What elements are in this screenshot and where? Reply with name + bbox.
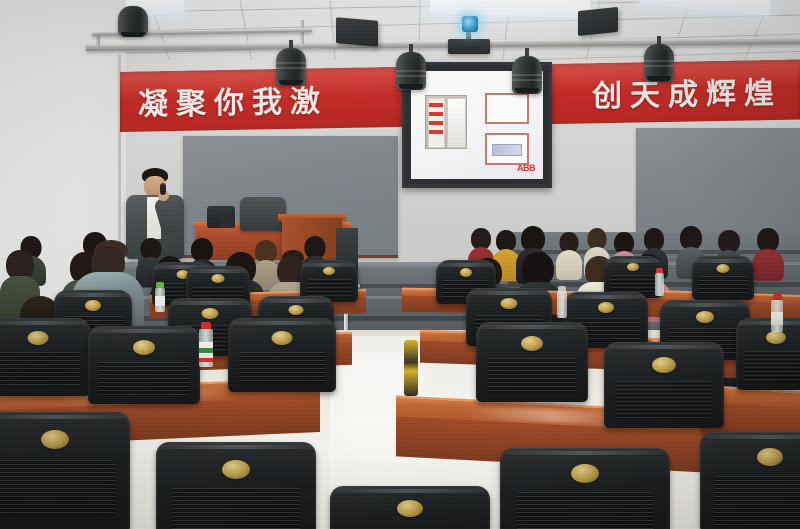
slide-cabinet-image bbox=[425, 95, 467, 149]
chair-r5-4 bbox=[500, 448, 670, 529]
water-bottle-green-cap bbox=[154, 282, 166, 312]
chair-r4-5 bbox=[604, 342, 724, 428]
microphone bbox=[160, 183, 166, 195]
water-bottle-far-right bbox=[654, 268, 665, 296]
chair-r4-6 bbox=[736, 318, 800, 390]
stage-spotlight-5 bbox=[118, 4, 148, 38]
chair-r5-5 bbox=[700, 432, 800, 529]
wall-speaker-right bbox=[578, 7, 618, 36]
stage-spotlight-2 bbox=[396, 44, 426, 90]
slide-box-inner-bar bbox=[492, 144, 522, 156]
chair-r5-2 bbox=[156, 442, 316, 529]
audience-person-r10 bbox=[752, 228, 784, 278]
chair-r4-4 bbox=[476, 322, 588, 402]
slide-box-bottom bbox=[485, 133, 529, 165]
projector-body bbox=[448, 39, 490, 54]
ceiling-projector bbox=[448, 28, 490, 62]
stage-spotlight-1 bbox=[276, 40, 306, 86]
chair-r5-3 bbox=[330, 486, 490, 529]
chair-r5-1 bbox=[0, 412, 130, 529]
yellow-strap-object bbox=[404, 340, 418, 396]
cabinet-interior bbox=[447, 98, 466, 148]
slide-box-top bbox=[485, 93, 529, 124]
chair-r4-3 bbox=[228, 318, 336, 392]
water-bottle-red-cap bbox=[198, 322, 214, 368]
chair-r4-2 bbox=[88, 326, 200, 404]
conference-room-photo: 凝聚你我激 创天成辉煌 ABB bbox=[0, 0, 800, 529]
chair-r4-1 bbox=[0, 318, 90, 396]
stage-spotlight-4 bbox=[644, 36, 674, 82]
chair-r2-6 bbox=[692, 256, 754, 300]
abb-logo: ABB bbox=[517, 163, 535, 173]
banner-text-right: 创天成辉煌 bbox=[592, 68, 782, 115]
wall-speaker-left bbox=[336, 17, 378, 47]
water-bottle-right bbox=[770, 294, 784, 332]
stage-spotlight-3 bbox=[512, 48, 542, 94]
projector-lens bbox=[462, 16, 478, 32]
water-bottle-clear bbox=[556, 286, 568, 318]
stage-equipment-secondary bbox=[219, 214, 235, 228]
